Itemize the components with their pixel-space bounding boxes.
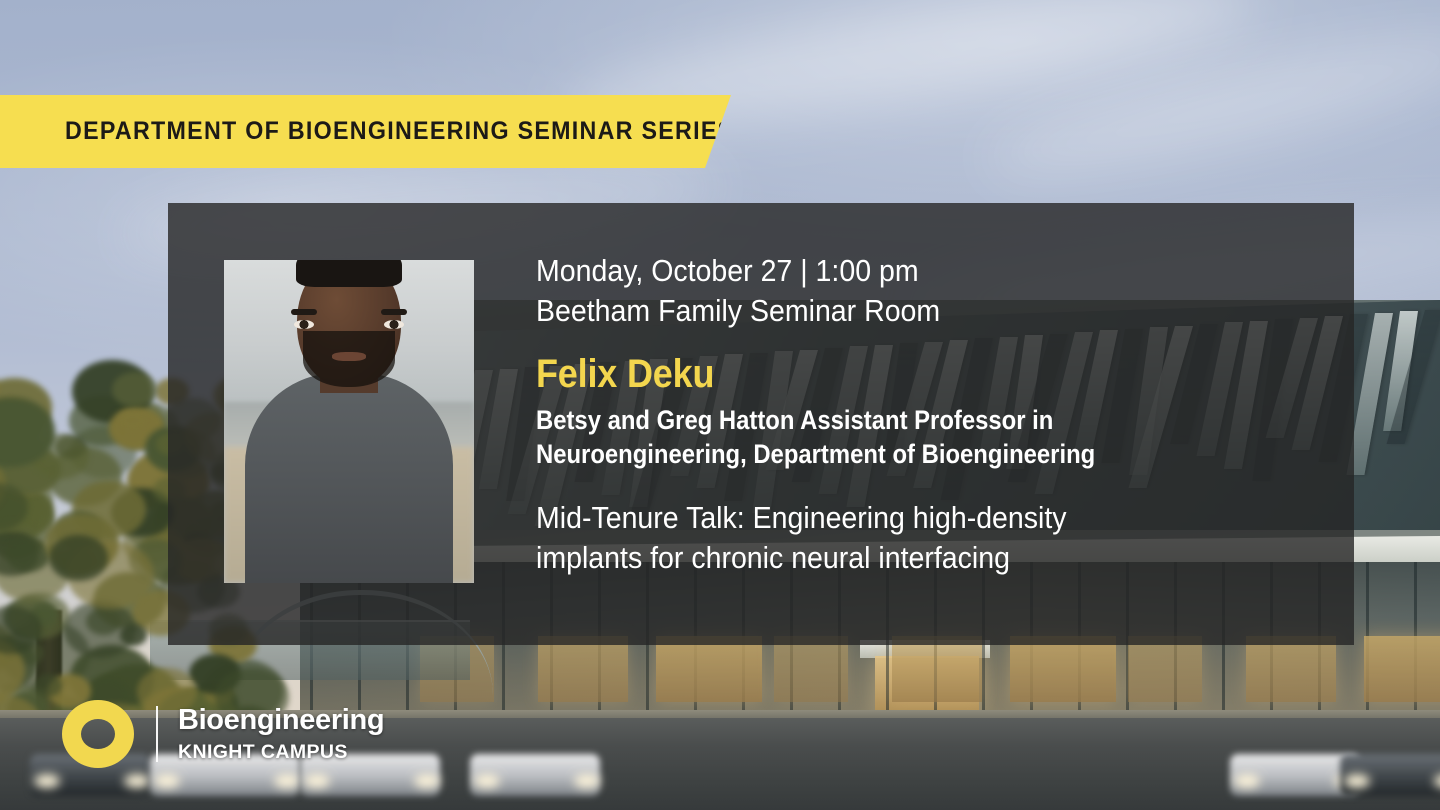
- car-headlight: [574, 774, 600, 788]
- car-headlight: [34, 774, 60, 788]
- interior-lit-window: [1128, 636, 1202, 702]
- speaker-title-line-2: Neuroengineering, Department of Bioengin…: [536, 438, 1245, 472]
- interior-lit-window: [538, 636, 628, 702]
- logo-secondary-text: KNIGHT CAMPUS: [178, 743, 384, 763]
- tree-foliage: [49, 535, 108, 581]
- headshot-eyebrow: [381, 309, 407, 315]
- car-headlight: [304, 774, 330, 788]
- car-headlight: [274, 774, 300, 788]
- speaker-name: Felix Deku: [536, 352, 1245, 397]
- headshot-eye: [294, 320, 314, 329]
- tree-foliage: [6, 538, 50, 572]
- car-headlight: [1344, 774, 1370, 788]
- interior-lit-window: [1364, 636, 1440, 702]
- series-banner-label: DEPARTMENT OF BIOENGINEERING SEMINAR SER…: [65, 117, 734, 146]
- info-panel: Monday, October 27 | 1:00 pm Beetham Fam…: [168, 203, 1354, 645]
- car-headlight: [124, 774, 150, 788]
- car-headlight: [154, 774, 180, 788]
- tree-foliage: [64, 601, 137, 658]
- headshot-eyebrow: [291, 309, 317, 315]
- logo-primary-text: Bioengineering: [178, 706, 384, 735]
- seminar-poster: DEPARTMENT OF BIOENGINEERING SEMINAR SER…: [0, 0, 1440, 810]
- knight-campus-logo: Bioengineering KNIGHT CAMPUS: [62, 700, 384, 768]
- event-details: Monday, October 27 | 1:00 pm Beetham Fam…: [536, 251, 1324, 579]
- headshot-eye: [384, 320, 404, 329]
- interior-lit-window: [656, 636, 762, 702]
- logo-divider: [156, 706, 158, 762]
- event-location: Beetham Family Seminar Room: [536, 291, 1261, 331]
- speaker-headshot: [224, 260, 474, 583]
- series-banner: DEPARTMENT OF BIOENGINEERING SEMINAR SER…: [0, 95, 731, 168]
- talk-title-line-1: Mid-Tenure Talk: Engineering high-densit…: [536, 498, 1261, 538]
- headshot-torso: [245, 373, 453, 583]
- interior-lit-window: [892, 636, 982, 702]
- oregon-o-icon: [62, 700, 134, 768]
- talk-title-line-2: implants for chronic neural interfacing: [536, 538, 1261, 578]
- event-datetime: Monday, October 27 | 1:00 pm: [536, 251, 1261, 291]
- car-headlight: [1234, 774, 1260, 788]
- speaker-title-line-1: Betsy and Greg Hatton Assistant Professo…: [536, 404, 1245, 438]
- interior-lit-window: [1010, 636, 1116, 702]
- car-headlight: [414, 774, 440, 788]
- logo-wordmark: Bioengineering KNIGHT CAMPUS: [178, 706, 384, 763]
- headshot-hair: [296, 260, 402, 287]
- headshot-mouth: [332, 352, 366, 361]
- interior-lit-window: [1246, 636, 1336, 702]
- car-headlight: [474, 774, 500, 788]
- interior-lit-window: [774, 636, 848, 702]
